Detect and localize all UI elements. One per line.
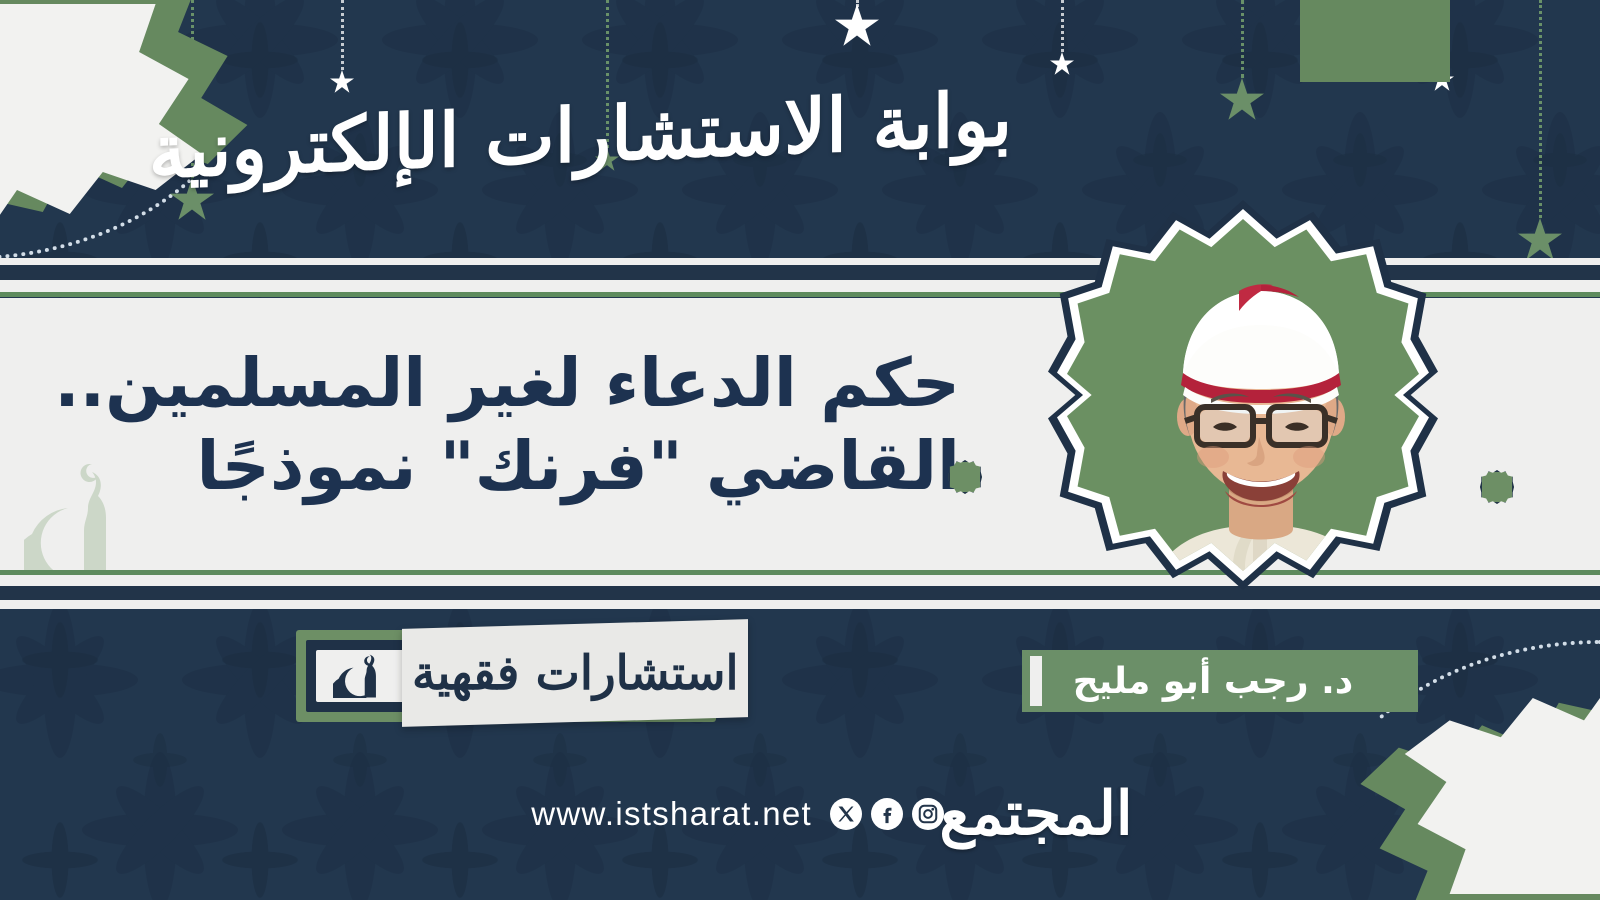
x-twitter-icon xyxy=(836,804,856,824)
star-string xyxy=(1241,0,1244,78)
instagram-link[interactable] xyxy=(912,798,944,830)
hanging-star-6 xyxy=(1240,0,1244,122)
headline-title: حكم الدعاء لغير المسلمين.. القاضي "فرنك"… xyxy=(54,344,960,506)
author-portrait xyxy=(1048,200,1438,590)
headline-line-2: القاضي "فرنك" نموذجًا xyxy=(54,427,960,506)
banner-image: بوابة الاستشارات الإلكترونية حكم الدعاء … xyxy=(0,0,1600,900)
author-name: د. رجب أبو مليح xyxy=(1073,661,1368,702)
category-badge[interactable]: استشارات فقهية xyxy=(296,624,748,728)
hanging-star-4 xyxy=(855,0,859,48)
author-name-plate: د. رجب أبو مليح xyxy=(1022,650,1418,712)
badge-label: استشارات فقهية xyxy=(412,646,739,701)
facebook-icon xyxy=(876,803,898,825)
star-string xyxy=(1061,0,1064,52)
x-twitter-link[interactable] xyxy=(830,798,862,830)
medallion-background-green xyxy=(1067,219,1419,571)
headline-line-1: حكم الدعاء لغير المسلمين.. xyxy=(54,344,960,423)
footer-logo-calligraphy: المجتمع xyxy=(962,764,1110,864)
site-title-calligraphy: بوابة الاستشارات الإلكترونية xyxy=(228,44,933,226)
badge-logo xyxy=(316,650,406,702)
social-links xyxy=(830,798,944,830)
instagram-icon xyxy=(917,803,939,825)
author-photo xyxy=(1113,241,1409,571)
star-string xyxy=(1539,0,1542,218)
author-plate-accent xyxy=(1030,656,1042,706)
facebook-link[interactable] xyxy=(871,798,903,830)
hanging-star-8 xyxy=(1538,0,1542,262)
rosette-icon xyxy=(1480,470,1514,504)
hanging-star-5 xyxy=(1060,0,1064,76)
banner-rule-white-4 xyxy=(0,600,1600,609)
footer: المجتمع www.istsharat.net xyxy=(470,762,1110,866)
mosque-crescent-icon xyxy=(333,654,389,698)
decorative-green-block xyxy=(1300,0,1450,82)
star-string xyxy=(341,0,344,70)
badge-plate: استشارات فقهية xyxy=(402,619,748,727)
star-string xyxy=(856,0,859,4)
website-url[interactable]: www.istsharat.net xyxy=(531,795,812,833)
